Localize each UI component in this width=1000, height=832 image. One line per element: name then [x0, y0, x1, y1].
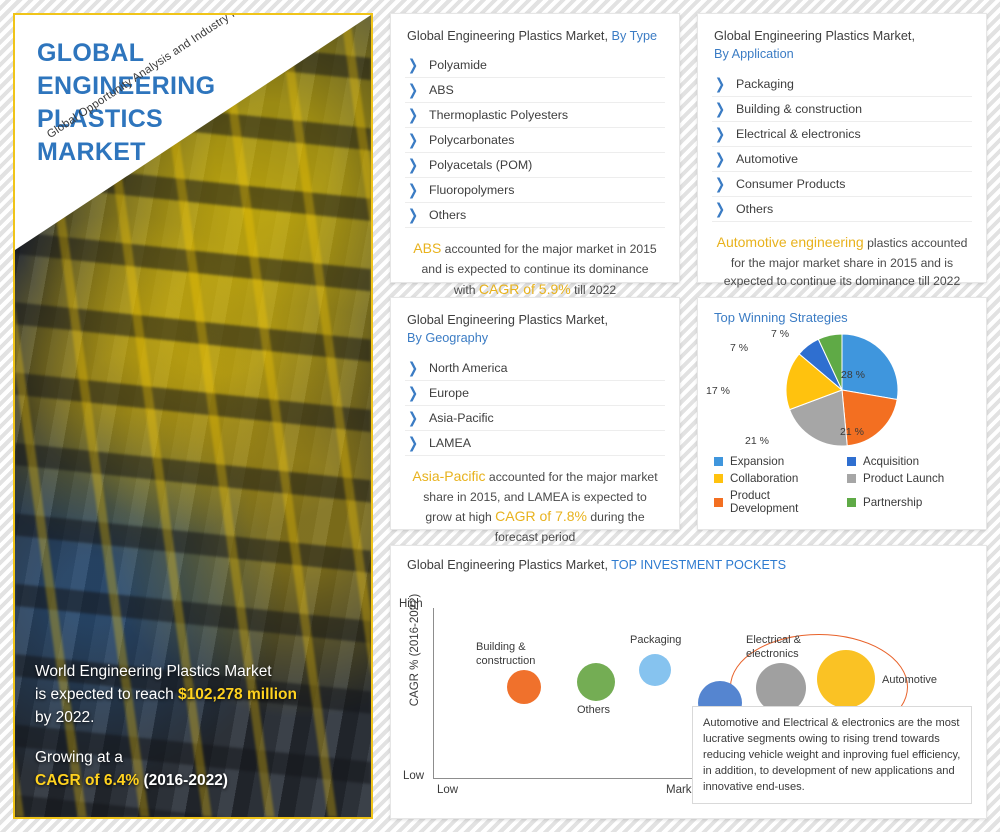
card-by-application-title: Global Engineering Plastics Market,By Ap… [698, 14, 986, 72]
hero-stat-line-5: CAGR of 6.4% (2016-2022) [35, 770, 355, 793]
legend-swatch-icon [847, 498, 856, 507]
chevron-right-icon: ❯ [714, 100, 726, 118]
card-by-geography: Global Engineering Plastics Market,By Ge… [390, 297, 680, 530]
list-item[interactable]: ❯Polyacetals (POM) [405, 153, 665, 178]
pie-slice-value-label: 7 % [730, 342, 748, 354]
pockets-bubble[interactable] [577, 663, 615, 701]
legend-item-label: Product Launch [863, 472, 944, 485]
card-by-application: Global Engineering Plastics Market,By Ap… [697, 13, 987, 283]
chevron-right-icon: ❯ [407, 207, 419, 225]
hero-stat-value: $102,278 million [178, 686, 297, 703]
chevron-right-icon: ❯ [407, 157, 419, 175]
legend-item[interactable]: Collaboration [714, 472, 839, 485]
legend-swatch-icon [714, 474, 723, 483]
pockets-bubble-label: Automotive [882, 674, 937, 688]
card-by-type: Global Engineering Plastics Market, By T… [390, 13, 680, 283]
list-item[interactable]: ❯Others [712, 197, 972, 222]
hero-stat-line-3: by 2022. [35, 707, 355, 730]
legend-item[interactable]: Product Development [714, 489, 839, 515]
list-item[interactable]: ❯Consumer Products [712, 172, 972, 197]
pockets-chart-title: Global Engineering Plastics Market, TOP … [391, 546, 986, 572]
card-by-application-note: Automotive engineering plastics accounte… [698, 222, 986, 304]
legend-swatch-icon [847, 474, 856, 483]
list-item-label: ABS [429, 83, 454, 97]
chevron-right-icon: ❯ [714, 200, 726, 218]
legend-item[interactable]: Expansion [714, 455, 839, 468]
list-item-label: Asia-Pacific [429, 411, 494, 425]
hero-panel: GLOBAL ENGINEERING PLASTICS MARKET Globa… [13, 13, 373, 819]
application-list: ❯Packaging ❯Building & construction ❯Ele… [698, 72, 986, 222]
legend-swatch-icon [714, 498, 723, 507]
note-highlight-1: Automotive engineering [717, 234, 864, 250]
pie-slice-value-label: 21 % [745, 435, 769, 447]
hero-stat-line-2: is expected to reach $102,278 million [35, 684, 355, 707]
list-item-label: Packaging [736, 77, 794, 91]
chevron-right-icon: ❯ [407, 82, 419, 100]
pockets-bubble-label: Packaging [630, 634, 681, 648]
card-by-type-title: Global Engineering Plastics Market, By T… [391, 14, 679, 53]
list-item-label: Consumer Products [736, 177, 846, 191]
list-item[interactable]: ❯Europe [405, 381, 665, 406]
chevron-right-icon: ❯ [407, 434, 419, 452]
chevron-right-icon: ❯ [407, 384, 419, 402]
pie-slice-value-label: 17 % [706, 385, 730, 397]
legend-swatch-icon [847, 457, 856, 466]
chevron-right-icon: ❯ [714, 150, 726, 168]
chevron-right-icon: ❯ [407, 132, 419, 150]
y-axis-line [433, 608, 434, 778]
note-highlight-1: Asia-Pacific [412, 468, 485, 484]
chevron-right-icon: ❯ [407, 409, 419, 427]
legend-item[interactable]: Product Launch [847, 472, 972, 485]
legend-item[interactable]: Acquisition [847, 455, 972, 468]
note-highlight-2: CAGR of 7.8% [495, 508, 587, 524]
hero-stat-spacer [35, 730, 355, 747]
list-item-label: Building & construction [736, 102, 862, 116]
chevron-right-icon: ❯ [714, 175, 726, 193]
list-item-label: Others [429, 208, 466, 222]
list-item[interactable]: ❯Others [405, 203, 665, 228]
hero-stat-line-4: Growing at a [35, 747, 355, 770]
pie-slice-value-label: 28 % [841, 369, 865, 381]
pie-chart-legend: ExpansionAcquisitionCollaborationProduct… [698, 451, 986, 515]
list-item[interactable]: ❯Fluoropolymers [405, 178, 665, 203]
chevron-right-icon: ❯ [407, 359, 419, 377]
chevron-right-icon: ❯ [407, 182, 419, 200]
pie-slice-value-label: 21 % [840, 426, 864, 438]
note-text-2: till 2022 [571, 283, 616, 297]
list-item[interactable]: ❯Building & construction [712, 97, 972, 122]
x-axis-tick-low: Low [437, 784, 458, 796]
card-by-geography-title: Global Engineering Plastics Market,By Ge… [391, 298, 679, 356]
list-item-label: Polyamide [429, 58, 487, 72]
list-item-label: Polycarbonates [429, 133, 514, 147]
chevron-right-icon: ❯ [714, 125, 726, 143]
list-item[interactable]: ❯ABS [405, 78, 665, 103]
list-item[interactable]: ❯Electrical & electronics [712, 122, 972, 147]
pockets-bubble[interactable] [639, 654, 671, 686]
card-top-investment-pockets: Global Engineering Plastics Market, TOP … [390, 545, 987, 819]
card-top-winning-strategies: Top Winning Strategies 28 %21 %21 %17 %7… [697, 297, 987, 530]
pockets-title-main: Global Engineering Plastics Market, [407, 558, 611, 572]
list-item-label: Electrical & electronics [736, 127, 861, 141]
list-item[interactable]: ❯Packaging [712, 72, 972, 97]
list-item[interactable]: ❯Polyamide [405, 53, 665, 78]
card-by-geography-title-accent: By Geography [407, 331, 488, 345]
legend-item-label: Product Development [730, 489, 839, 515]
legend-item-label: Collaboration [730, 472, 798, 485]
pockets-bubble[interactable] [507, 670, 541, 704]
list-item-label: Fluoropolymers [429, 183, 514, 197]
list-item[interactable]: ❯Polycarbonates [405, 128, 665, 153]
pockets-bubble-label: Building & construction [476, 641, 535, 669]
note-highlight-2: CAGR of 5.9% [479, 281, 571, 297]
list-item-label: Polyacetals (POM) [429, 158, 532, 172]
legend-item-label: Partnership [863, 496, 922, 509]
hero-cagr-value: CAGR of 6.4% [35, 772, 139, 789]
card-by-geography-title-main: Global Engineering Plastics Market, [407, 313, 608, 327]
list-item-label: North America [429, 361, 508, 375]
pie-slice-value-label: 7 % [771, 328, 789, 340]
card-by-type-title-main: Global Engineering Plastics Market, [407, 29, 608, 43]
card-by-geography-note: Asia-Pacific accounted for the major mar… [391, 456, 679, 559]
note-highlight-1: ABS [413, 240, 441, 256]
chevron-right-icon: ❯ [714, 75, 726, 93]
pie-chart-title: Top Winning Strategies [698, 298, 986, 325]
type-list: ❯Polyamide ❯ABS ❯Thermoplastic Polyester… [391, 53, 679, 228]
chevron-right-icon: ❯ [407, 57, 419, 75]
card-by-application-title-accent: By Application [714, 47, 794, 61]
pie-slice [842, 334, 898, 400]
y-axis-tick-low: Low [403, 770, 424, 782]
y-axis-label: CAGR % (2016-2022) [409, 590, 421, 710]
page-title-line-4: MARKET [37, 136, 297, 169]
list-item-label: Europe [429, 386, 469, 400]
card-by-type-title-accent: By Type [608, 29, 657, 43]
pockets-bubble-label: Others [577, 704, 610, 718]
hero-stat-line-1: World Engineering Plastics Market [35, 661, 355, 684]
hero-footer-stats: World Engineering Plastics Market is exp… [35, 661, 355, 793]
legend-item-label: Expansion [730, 455, 784, 468]
hero-stat-line-2-pre: is expected to reach [35, 686, 178, 703]
pockets-bubble[interactable] [817, 650, 875, 708]
list-item-label: Thermoplastic Polyesters [429, 108, 568, 122]
list-item-label: Others [736, 202, 773, 216]
pockets-bubble-label: Electrical & electronics [746, 634, 801, 662]
list-item[interactable]: ❯Asia-Pacific [405, 406, 665, 431]
card-by-application-title-main: Global Engineering Plastics Market, [714, 29, 915, 43]
chevron-right-icon: ❯ [407, 107, 419, 125]
list-item-label: LAMEA [429, 436, 471, 450]
pie-chart-area: 28 %21 %21 %17 %7 %7 % [698, 325, 986, 451]
pockets-callout-box: Automotive and Electrical & electronics … [692, 706, 972, 804]
legend-swatch-icon [714, 457, 723, 466]
legend-item-label: Acquisition [863, 455, 919, 468]
geography-list: ❯North America ❯Europe ❯Asia-Pacific ❯LA… [391, 356, 679, 456]
list-item[interactable]: ❯Automotive [712, 147, 972, 172]
hero-cagr-period: (2016-2022) [139, 772, 228, 789]
list-item[interactable]: ❯North America [405, 356, 665, 381]
pockets-title-accent: TOP INVESTMENT POCKETS [611, 558, 786, 572]
list-item[interactable]: ❯LAMEA [405, 431, 665, 456]
pockets-plot-area: High Low CAGR % (2016-2022) Low Market A… [391, 572, 986, 804]
page-title-line-2: ENGINEERING [37, 70, 297, 103]
legend-item[interactable]: Partnership [847, 489, 972, 515]
list-item-label: Automotive [736, 152, 798, 166]
list-item[interactable]: ❯Thermoplastic Polyesters [405, 103, 665, 128]
